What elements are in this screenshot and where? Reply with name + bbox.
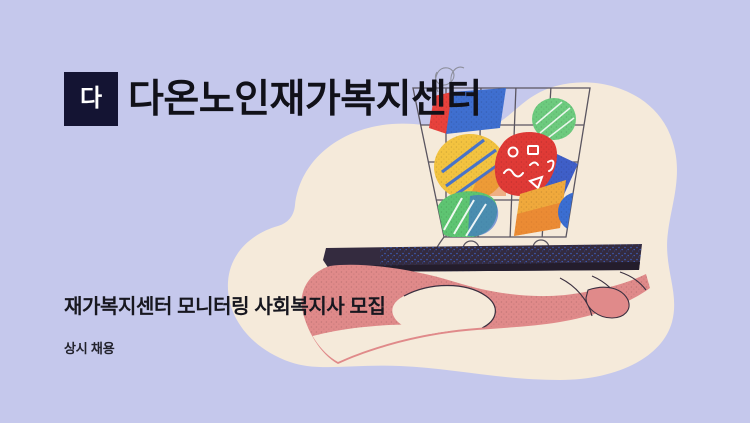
text-layer: 다 다온노인재가복지센터 재가복지센터 모니터링 사회복지사 모집 상시 채용 [0, 0, 750, 423]
posting-headline: 재가복지센터 모니터링 사회복지사 모집 [64, 295, 385, 319]
posting-subline: 상시 채용 [64, 341, 114, 357]
brand-title: 다온노인재가복지센터 [128, 80, 482, 119]
brand-row: 다 다온노인재가복지센터 [64, 72, 482, 126]
logo-badge: 다 [64, 72, 118, 126]
logo-badge-char: 다 [80, 87, 102, 111]
job-posting-banner: 다 다온노인재가복지센터 재가복지센터 모니터링 사회복지사 모집 상시 채용 [0, 0, 750, 423]
